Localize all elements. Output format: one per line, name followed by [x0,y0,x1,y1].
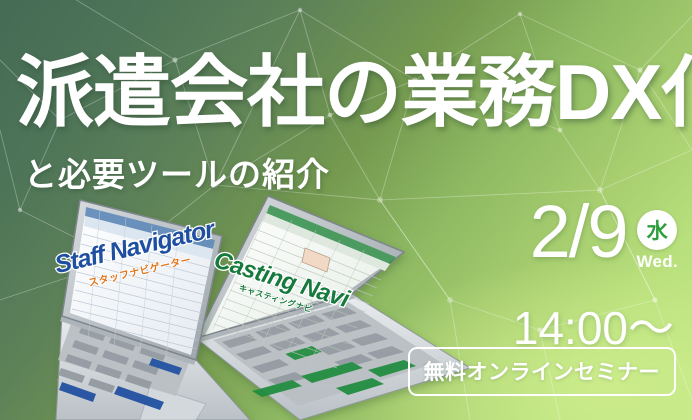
day-of-week-group: 水 Wed. [636,198,678,272]
page-title: 派遣会社の業務DX化 [16,52,680,134]
seminar-date: 2/9 [530,198,627,266]
page-subtitle: と必要ツールの紹介 [24,148,330,196]
laptops-graphic [0,190,470,420]
seminar-date-row: 2/9 水 Wed. [530,198,678,272]
free-online-seminar-badge: 無料オンラインセミナー [408,347,677,396]
day-of-week-label-en: Wed. [636,252,678,272]
day-of-week-badge-ja: 水 [637,210,677,250]
seminar-banner: 派遣会社の業務DX化 と必要ツールの紹介 [0,0,692,420]
laptops-illustration: Staff Navigator スタッフナビゲーター Casting Navi … [0,190,470,420]
